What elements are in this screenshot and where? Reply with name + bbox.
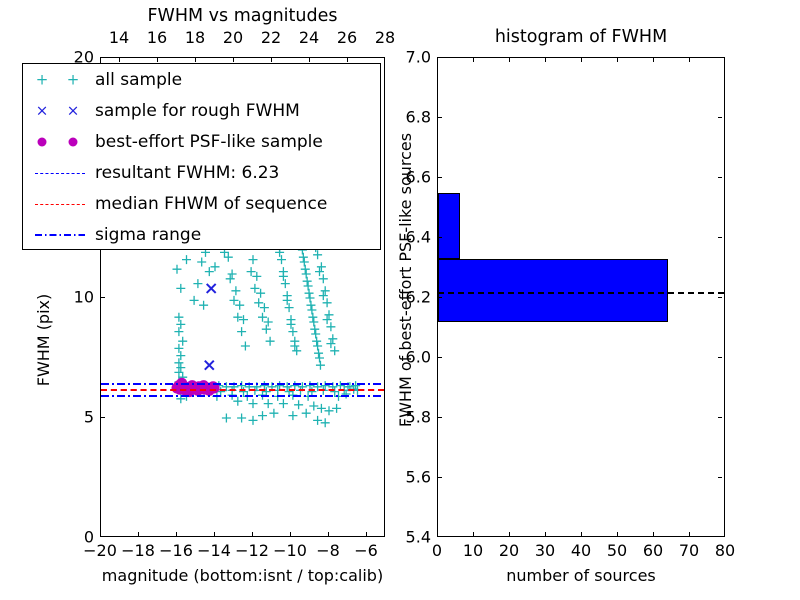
histogram-of-fwhm-axes[interactable] [437, 57, 725, 537]
right-y-tick-label: 6.4 [393, 228, 431, 247]
dashed-line-icon [29, 191, 91, 217]
tick-mark [438, 177, 442, 178]
tick-mark [438, 417, 442, 418]
tick-mark [545, 58, 546, 62]
median-fhwm-line [101, 389, 384, 391]
tick-mark [347, 58, 348, 62]
top-tick-label: 28 [375, 28, 395, 47]
right-y-tick-label: 6.2 [393, 288, 431, 307]
median-fwhm-marker-line [438, 292, 724, 294]
tick-mark [653, 532, 654, 536]
tick-mark [101, 417, 105, 418]
right-x-tick-label: 20 [499, 541, 519, 560]
tick-mark [438, 357, 442, 358]
tick-mark [366, 532, 367, 536]
tick-mark [509, 58, 510, 62]
legend-label: best-effort PSF-like sample [91, 132, 323, 152]
tick-mark [718, 417, 722, 418]
legend-label: sample for rough FWHM [91, 101, 300, 121]
tick-mark [718, 297, 722, 298]
legend-item-sigma-range[interactable]: sigma range [23, 219, 380, 250]
left-y-tick-label: 5 [56, 408, 94, 427]
tick-mark [718, 177, 722, 178]
tick-mark [509, 532, 510, 536]
legend-box[interactable]: + + all sample × × sample for rough FWHM… [22, 63, 381, 250]
tick-mark [233, 58, 234, 62]
right-y-tick-label: 5.4 [393, 528, 431, 547]
plus-marker-icon: + + [29, 67, 91, 93]
bottom-tick-label: −6 [354, 541, 378, 560]
tick-mark [718, 237, 722, 238]
tick-mark [473, 532, 474, 536]
legend-item-resultant-fwhm[interactable]: resultant FWHM: 6.23 [23, 157, 380, 188]
right-x-tick-label: 80 [715, 541, 735, 560]
tick-mark [718, 357, 722, 358]
dashdot-line-icon [29, 222, 91, 248]
top-tick-label: 18 [185, 28, 205, 47]
top-tick-label: 22 [261, 28, 281, 47]
tick-mark [214, 532, 215, 536]
tick-mark [653, 58, 654, 62]
tick-mark [176, 532, 177, 536]
tick-mark [101, 297, 105, 298]
legend-label: resultant FWHM: 6.23 [91, 163, 279, 183]
right-y-tick-label: 6.0 [393, 348, 431, 367]
tick-mark [328, 532, 329, 536]
left-plot-title: FWHM vs magnitudes [100, 6, 385, 26]
tick-mark [581, 532, 582, 536]
tick-mark [718, 477, 722, 478]
legend-label: all sample [91, 70, 182, 90]
sigma-range-lower-line [101, 395, 384, 397]
right-y-tick-label: 5.6 [393, 468, 431, 487]
right-y-tick-label: 6.6 [393, 168, 431, 187]
right-y-tick-label: 7.0 [393, 48, 431, 67]
right-plot-datalayer [438, 58, 724, 536]
tick-mark [100, 532, 101, 536]
tick-mark [438, 237, 442, 238]
tick-mark [689, 58, 690, 62]
tick-mark [473, 58, 474, 62]
top-tick-label: 14 [109, 28, 129, 47]
right-xaxis-label: number of sources [437, 566, 725, 585]
histogram-bar[interactable] [438, 259, 668, 322]
cross-marker-icon: × × [29, 98, 91, 124]
tick-mark [271, 58, 272, 62]
tick-mark [718, 117, 722, 118]
bottom-tick-label: −16 [159, 541, 193, 560]
tick-mark [195, 58, 196, 62]
bottom-tick-label: −18 [121, 541, 155, 560]
right-x-tick-label: 10 [463, 541, 483, 560]
legend-label: sigma range [91, 225, 201, 245]
tick-mark [689, 532, 690, 536]
right-y-tick-label: 5.8 [393, 408, 431, 427]
tick-mark [581, 58, 582, 62]
right-x-tick-label: 40 [571, 541, 591, 560]
top-tick-label: 16 [147, 28, 167, 47]
tick-mark [252, 532, 253, 536]
tick-mark [309, 58, 310, 62]
right-x-tick-label: 0 [432, 541, 442, 560]
legend-label: median FHWM of sequence [91, 194, 327, 214]
right-x-tick-label: 50 [607, 541, 627, 560]
sigma-range-upper-line [101, 383, 384, 385]
tick-mark [438, 117, 442, 118]
tick-mark [290, 532, 291, 536]
left-y-tick-label: 10 [56, 288, 94, 307]
tick-mark [617, 532, 618, 536]
right-x-tick-label: 60 [643, 541, 663, 560]
tick-mark [119, 58, 120, 62]
legend-item-rough-fwhm[interactable]: × × sample for rough FWHM [23, 95, 380, 126]
right-plot-title: histogram of FWHM [437, 27, 725, 47]
tick-mark [157, 58, 158, 62]
left-yaxis-label: FWHM (pix) [34, 260, 53, 420]
bottom-tick-label: −8 [316, 541, 340, 560]
bottom-tick-label: −10 [273, 541, 307, 560]
tick-mark [438, 477, 442, 478]
dashed-line-icon [29, 160, 91, 186]
legend-item-psf-like[interactable]: best-effort PSF-like sample [23, 126, 380, 157]
right-x-tick-label: 70 [679, 541, 699, 560]
bottom-tick-label: −14 [197, 541, 231, 560]
tick-mark [138, 532, 139, 536]
bottom-tick-label: −20 [83, 541, 117, 560]
left-xaxis-label: magnitude (bottom:isnt / top:calib) [100, 566, 385, 585]
circle-marker-icon [29, 129, 91, 155]
top-tick-label: 24 [299, 28, 319, 47]
bottom-tick-label: −12 [235, 541, 269, 560]
histogram-bar[interactable] [438, 193, 460, 259]
tick-mark [617, 58, 618, 62]
tick-mark [545, 532, 546, 536]
legend-item-all-sample[interactable]: + + all sample [23, 64, 380, 95]
top-tick-label: 26 [337, 28, 357, 47]
tick-mark [438, 297, 442, 298]
figure-canvas: FWHM vs magnitudes 14 16 18 20 22 24 26 … [0, 0, 800, 600]
top-tick-label: 20 [223, 28, 243, 47]
right-x-tick-label: 30 [535, 541, 555, 560]
legend-item-median-fhwm[interactable]: median FHWM of sequence [23, 188, 380, 219]
right-y-tick-label: 6.8 [393, 108, 431, 127]
